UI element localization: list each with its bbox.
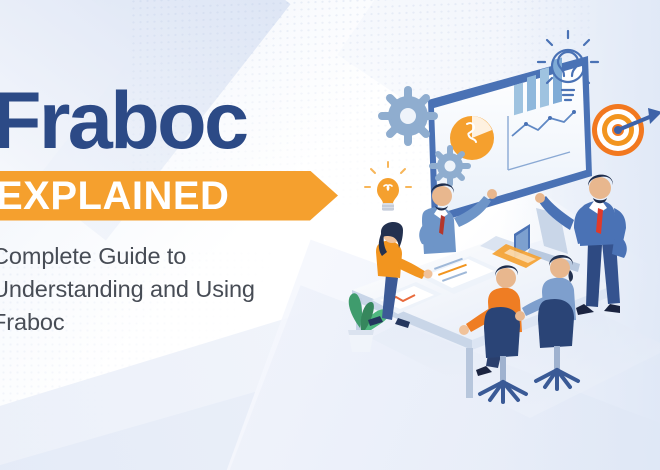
pie-chart <box>450 116 494 160</box>
explained-badge-label: EXPLAINED <box>0 176 229 216</box>
target-dartboard <box>592 104 660 156</box>
page-subtitle: Complete Guide to Understanding and Usin… <box>0 240 332 340</box>
office-chair <box>536 299 578 389</box>
page-title: Fraboc <box>0 84 384 159</box>
explained-badge: EXPLAINED <box>0 171 338 221</box>
hero-text-block: Fraboc EXPLAINED Complete Guide to Under… <box>0 84 384 340</box>
gear-small <box>432 148 468 184</box>
blog-hero-banner: Fraboc EXPLAINED Complete Guide to Under… <box>0 0 660 470</box>
gear-large <box>382 90 434 142</box>
